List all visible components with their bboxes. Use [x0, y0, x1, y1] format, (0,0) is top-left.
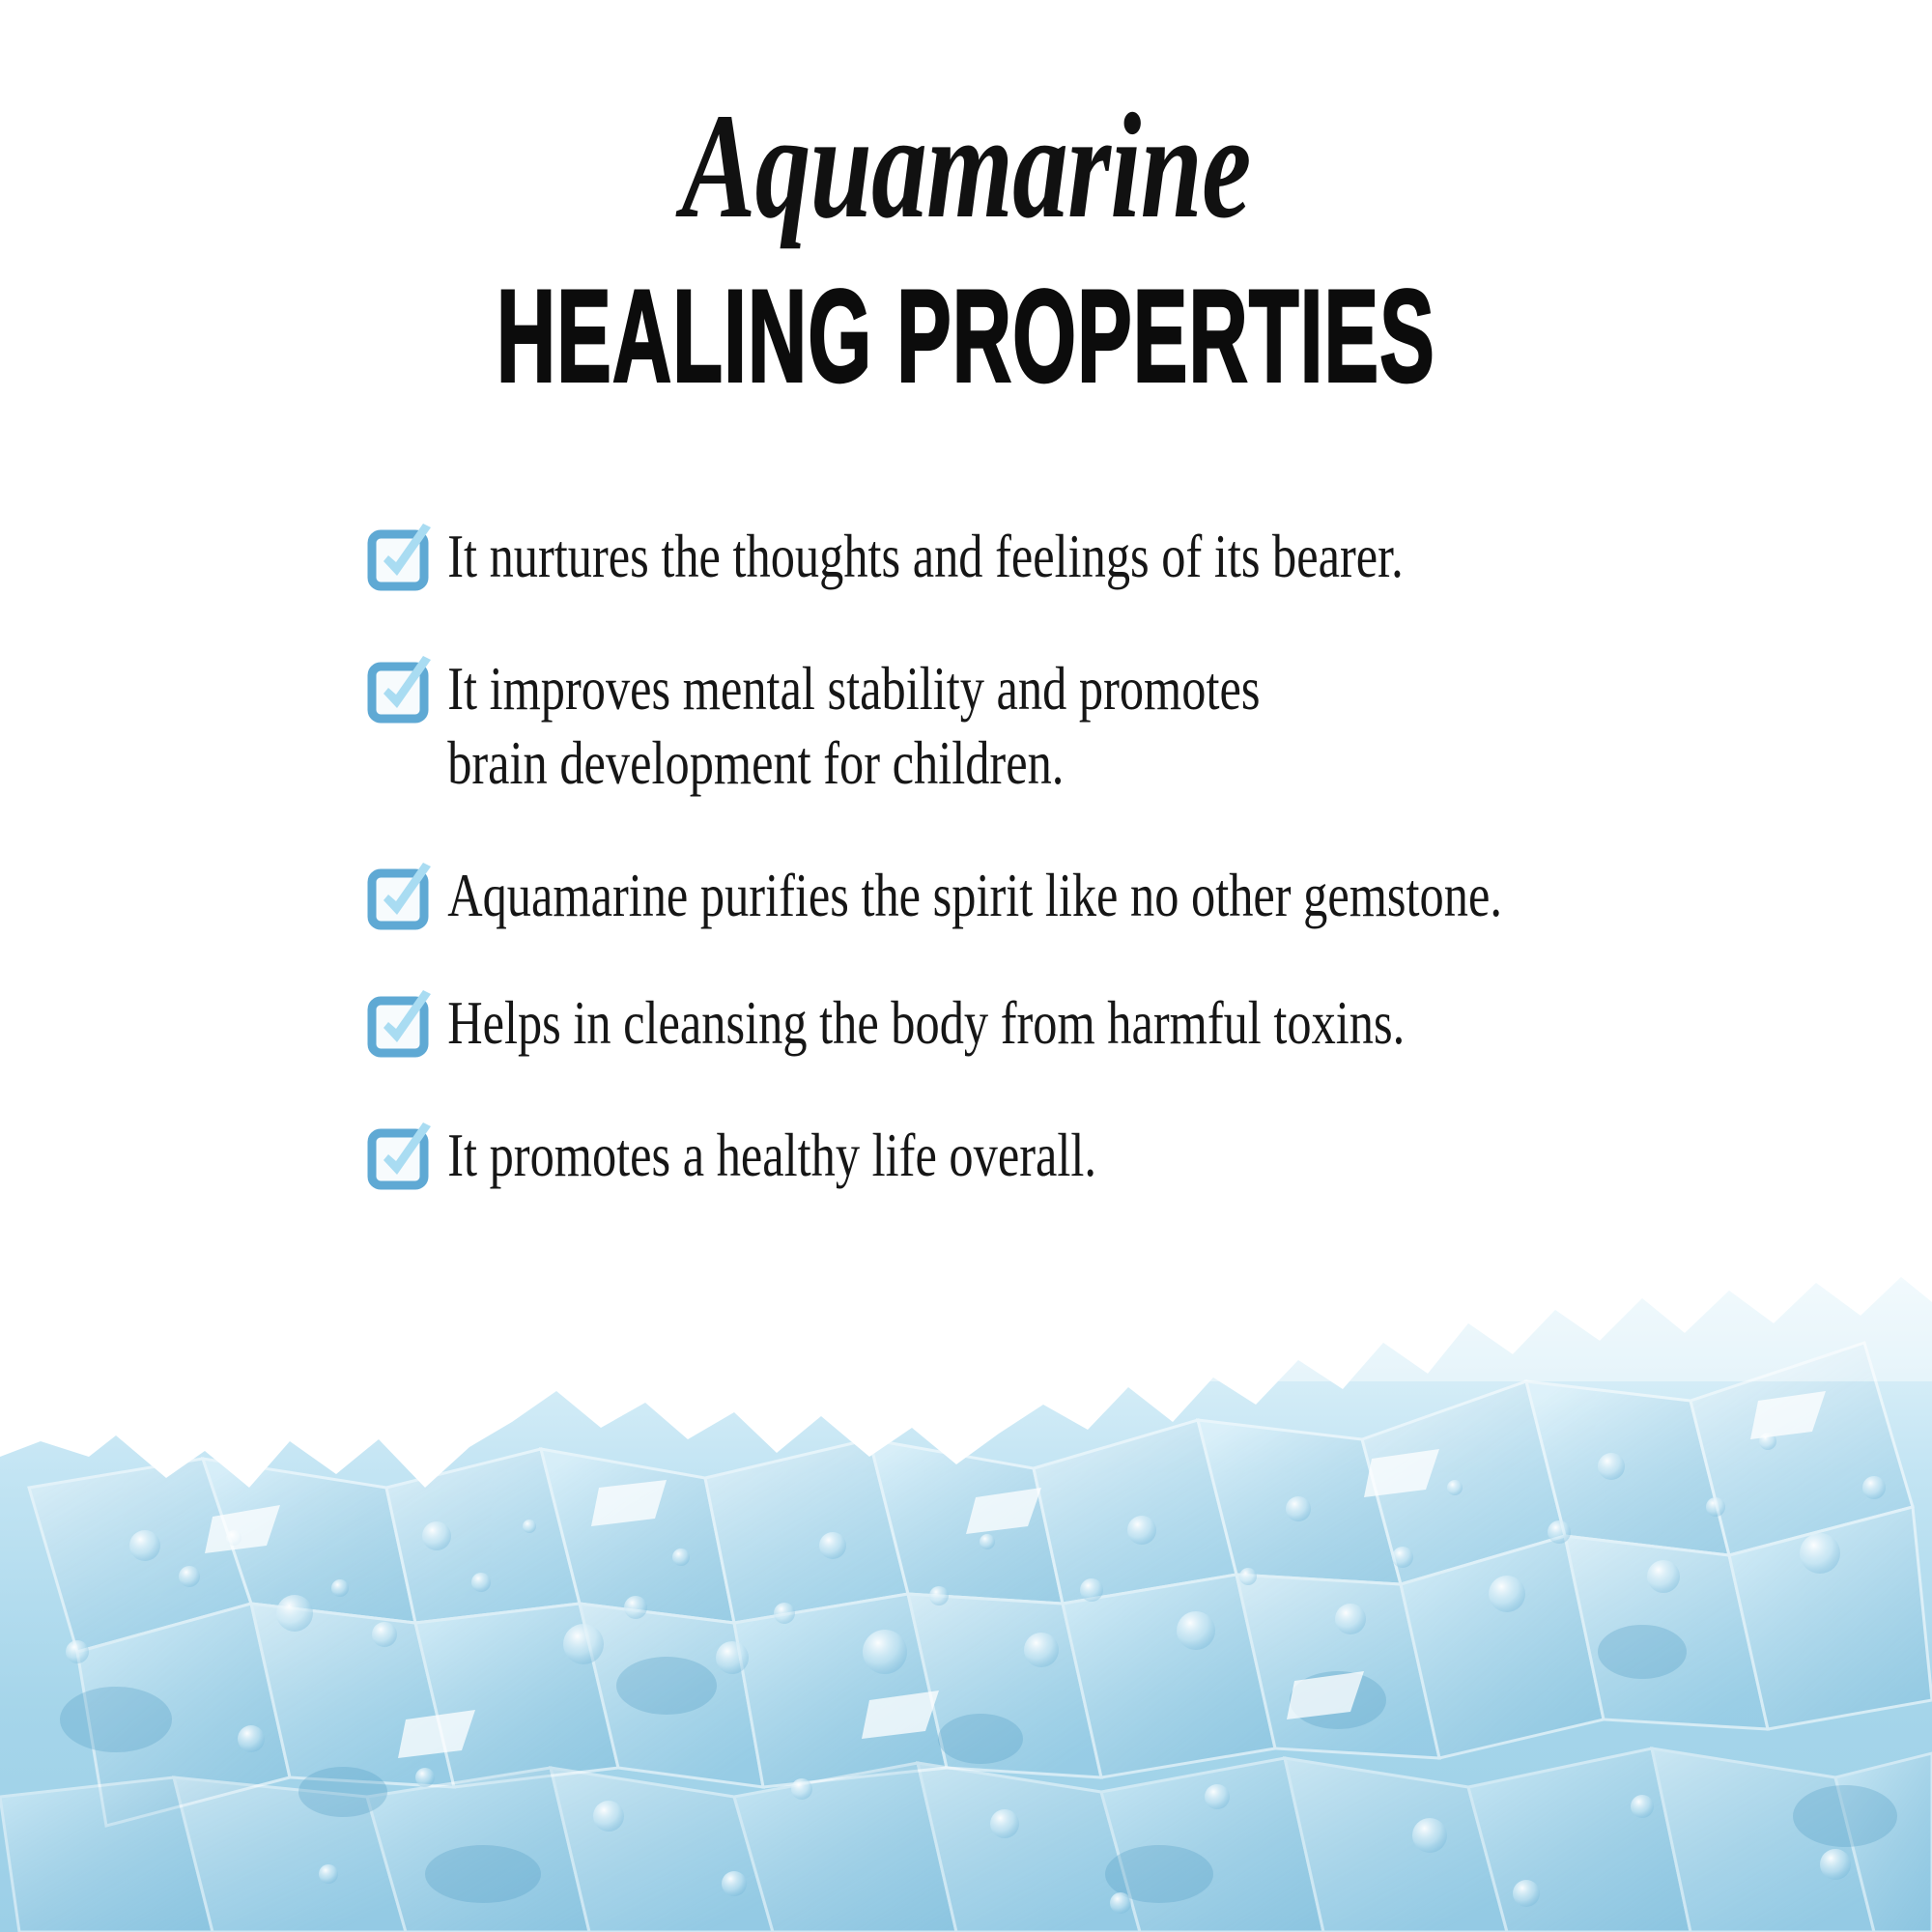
list-item: It promotes a healthy life overall.: [367, 1119, 1874, 1193]
page-title: Aquamarine: [251, 89, 1681, 242]
checked-checkbox-icon: [367, 865, 437, 932]
page-subtitle: HEALING PROPERTIES: [328, 271, 1604, 403]
checked-checkbox-icon: [367, 658, 437, 725]
checked-checkbox-icon: [367, 1124, 437, 1192]
poster-canvas: Aquamarine HEALING PROPERTIES It nurture…: [0, 0, 1932, 1932]
list-item: Helps in cleansing the body from harmful…: [367, 986, 1874, 1061]
list-item-label: It nurtures the thoughts and feelings of…: [437, 520, 1586, 594]
list-item-label: It promotes a healthy life overall.: [437, 1119, 1586, 1193]
list-item-label: Helps in cleansing the body from harmful…: [437, 986, 1586, 1061]
checked-checkbox-icon: [367, 992, 437, 1060]
list-item: It improves mental stability and promote…: [367, 652, 1874, 801]
checked-checkbox-icon: [367, 526, 437, 593]
list-item: Aquamarine purifies the spirit like no o…: [367, 859, 1874, 933]
ice-cubes-photo: [0, 1198, 1932, 1932]
list-item-label: Aquamarine purifies the spirit like no o…: [437, 859, 1586, 933]
list-item: It nurtures the thoughts and feelings of…: [367, 520, 1874, 594]
properties-list: It nurtures the thoughts and feelings of…: [367, 520, 1874, 1251]
list-item-label: It improves mental stability and promote…: [437, 652, 1586, 801]
header-block: Aquamarine HEALING PROPERTIES: [0, 89, 1932, 395]
